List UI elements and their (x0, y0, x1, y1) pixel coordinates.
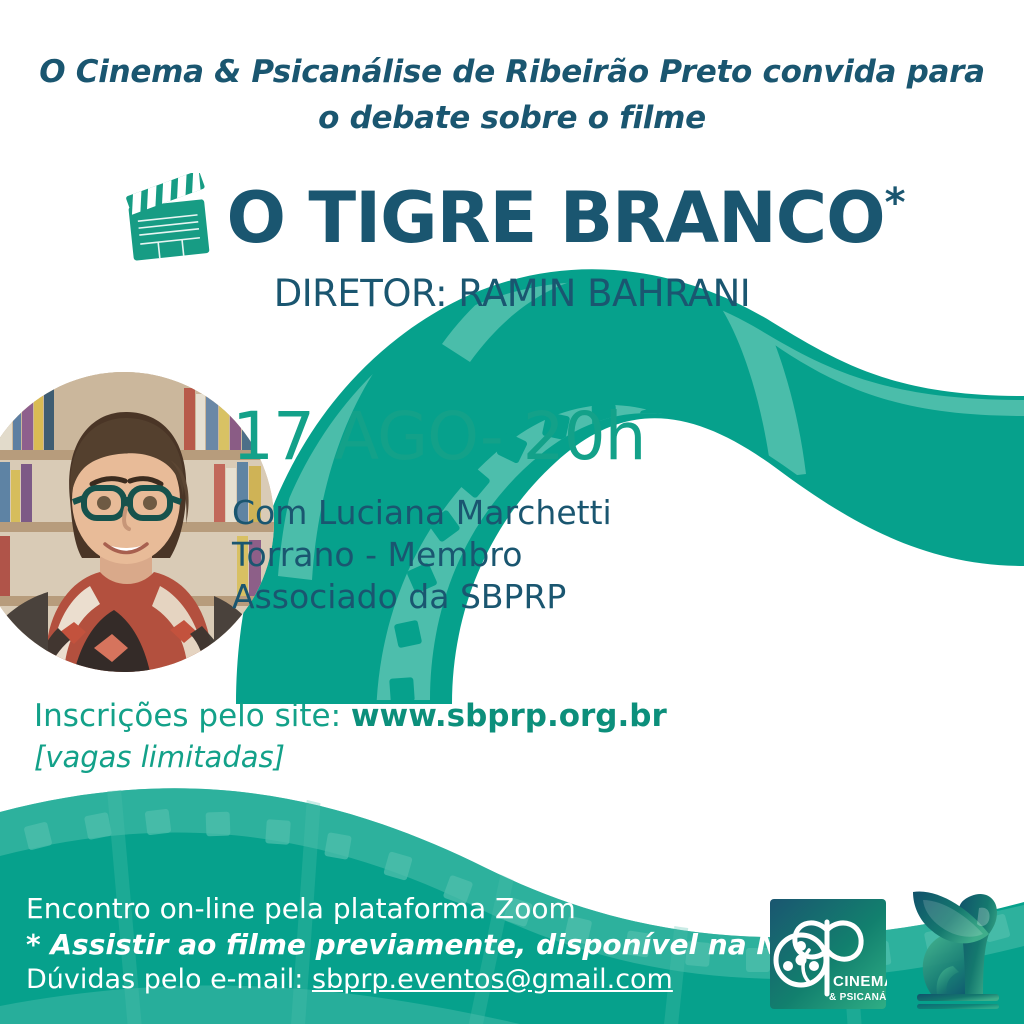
cinema-logo-line1: CINEMA (833, 973, 887, 990)
cinema-logo-line2: & PSICANÁLISE (829, 990, 887, 1003)
film-title: O TIGRE BRANCO (226, 183, 884, 253)
footer-email-label: Dúvidas pelo e-mail: (26, 964, 303, 995)
registration-website-link[interactable]: www.sbprp.org.br (351, 698, 667, 734)
speaker-info: Com Luciana Marchetti Torrano - Membro A… (232, 492, 612, 618)
speaker-line-1: Com Luciana Marchetti (232, 492, 612, 534)
cinema-psicanalise-logo: CINEMA & PSICANÁLISE (769, 898, 887, 1010)
registration-block: Inscrições pelo site: www.sbprp.org.br [… (34, 698, 667, 774)
event-date-time: 17 AGO- 20h (232, 404, 646, 470)
sbprp-sphinx-logo (897, 862, 1015, 1014)
invite-line-1: O Cinema & Psicanálise de Ribeirão Preto… (0, 54, 1024, 90)
footer-block: Encontro on-line pela plataforma Zoom * … (26, 892, 862, 995)
title-asterisk: * (885, 180, 906, 226)
footer-email-link[interactable]: sbprp.eventos@gmail.com (312, 964, 673, 995)
footer-netflix-note: * Assistir ao filme previamente, disponí… (26, 928, 862, 961)
footer-platform-line: Encontro on-line pela plataforma Zoom (26, 892, 862, 925)
invite-line-2: o debate sobre o filme (0, 100, 1024, 136)
registration-line: Inscrições pelo site: www.sbprp.org.br (34, 698, 667, 734)
clapperboard-icon (118, 173, 218, 263)
filmstrip-body-upper (236, 269, 1024, 704)
speaker-line-3: Associado da SBPRP (232, 576, 612, 618)
speaker-line-2: Torrano - Membro (232, 534, 612, 576)
title-row: O TIGRE BRANCO * (0, 168, 1024, 268)
registration-label: Inscrições pelo site: (34, 698, 341, 734)
registration-note: [vagas limitadas] (34, 740, 667, 774)
event-poster: O Cinema & Psicanálise de Ribeirão Preto… (0, 0, 1024, 1024)
director-line: DIRETOR: RAMIN BAHRANI (0, 272, 1024, 315)
footer-email-line: Dúvidas pelo e-mail: sbprp.eventos@gmail… (26, 964, 862, 995)
